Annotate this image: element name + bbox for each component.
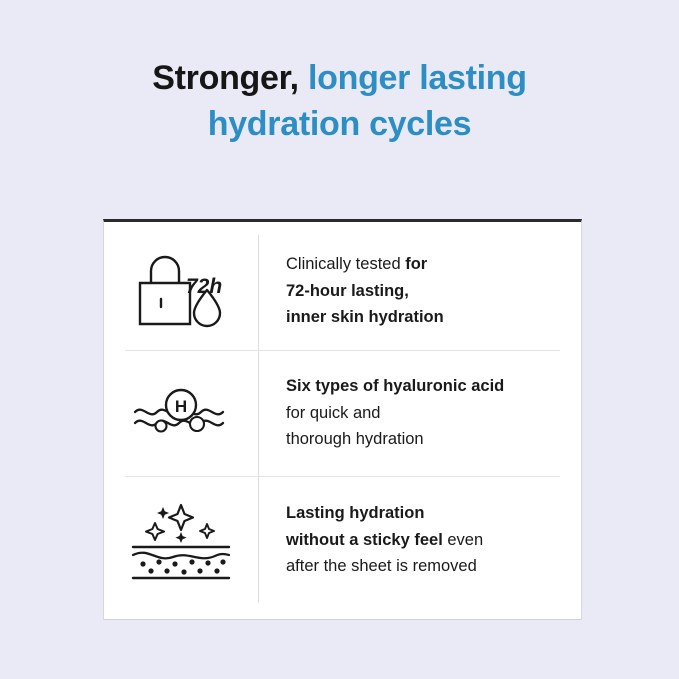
feature-text-bold: inner skin hydration [286,308,444,326]
sparkle-skin-layer-icon [129,499,233,581]
feature-text-bold: 72-hour lasting, [286,282,409,300]
feature-text-line: for quick and [286,400,581,427]
feature-text-regular: after the sheet is removed [286,557,477,575]
feature-text-cell: Six types of hyaluronic acid for quick a… [258,373,581,453]
feature-row: Lasting hydration without a sticky feel … [104,476,581,604]
headline-blue-text-2: hydration cycles [208,105,472,143]
feature-text-line: inner skin hydration [286,304,581,331]
page-title: Stronger, longer lasting hydration cycle… [0,55,679,147]
feature-row: H Six types of hyaluronic acid for quick… [104,350,581,476]
feature-icon-cell: 72h [104,251,258,331]
feature-row: 72h Clinically tested for 72-hour lastin… [104,232,581,350]
padlock-droplet-72h-icon: 72h [134,251,228,331]
feature-text-bold: Six types of hyaluronic acid [286,377,504,395]
feature-text-bold: without a sticky feel [286,531,443,549]
headline-blue-text-1: longer lasting [299,59,527,97]
headline-line-2: hydration cycles [0,101,679,147]
headline-line-1: Stronger, longer lasting [0,55,679,101]
feature-text-line: thorough hydration [286,426,581,453]
feature-text-line: Lasting hydration [286,500,581,527]
headline-dark-text: Stronger, [152,59,299,97]
feature-text-regular: Clinically tested [286,255,405,273]
feature-text-line: Clinically tested for [286,251,581,278]
feature-text-cell: Clinically tested for 72-hour lasting, i… [258,251,581,331]
feature-icon-cell: H [104,382,258,444]
feature-text-regular: even [443,531,483,549]
feature-card: 72h Clinically tested for 72-hour lastin… [103,219,582,620]
feature-text-line: without a sticky feel even [286,527,581,554]
water-waves-hyaluronic-icon: H [131,382,231,444]
feature-text-line: 72-hour lasting, [286,278,581,305]
feature-text-regular: thorough hydration [286,430,424,448]
feature-text-bold: Lasting hydration [286,504,424,522]
feature-text-regular: for quick and [286,404,380,422]
feature-text-line: Six types of hyaluronic acid [286,373,581,400]
feature-icon-cell [104,499,258,581]
feature-text-line: after the sheet is removed [286,553,581,580]
feature-text-bold: for [405,255,427,273]
hyaluronic-icon-label: H [175,397,187,416]
feature-text-cell: Lasting hydration without a sticky feel … [258,500,581,580]
